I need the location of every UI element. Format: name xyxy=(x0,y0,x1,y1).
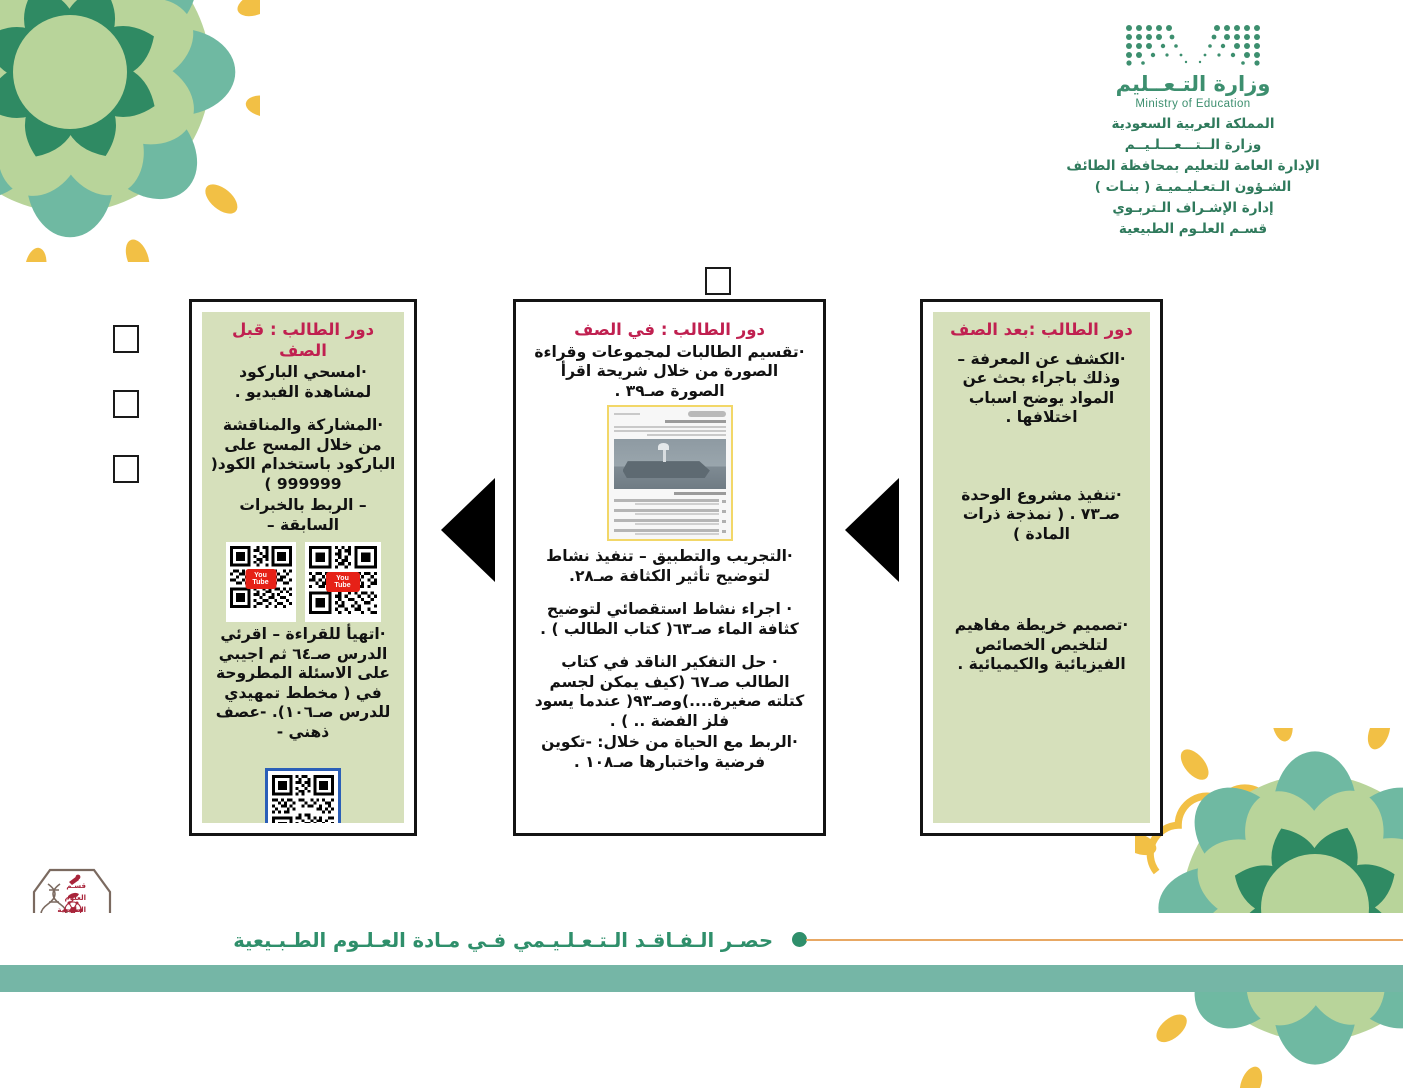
card-in-class: دور الطالب : في الصف ·تقسيم الطالبات لمج… xyxy=(513,299,826,836)
decorative-mandala-top-left xyxy=(0,0,260,262)
header-line-kingdom: المملكة العربية السعودية xyxy=(1043,114,1343,135)
card-in-class-para-1: ·التجريب والتطبيق – تنفيذ نشاط لتوضيح تأ… xyxy=(533,547,806,586)
header-line-supervision: إدارة الإشـراف الـتربـوي xyxy=(1043,198,1343,219)
card-in-class-para-4: ·الربط مع الحياة من خلال: -تكوين فرضية و… xyxy=(533,733,806,772)
flow-arrow-2 xyxy=(845,478,899,582)
card-before-para-3: – الربط بالخبرات السابقة – xyxy=(209,496,397,535)
ministry-name-en: Ministry of Education xyxy=(1043,98,1343,110)
moe-dots-logo xyxy=(1123,22,1263,66)
card-in-class-title: دور الطالب : في الصف xyxy=(533,320,806,341)
card-after-para-2: ·تنفيذ مشروع الوحدة صـ٧٣ . ( نمذجة ذرات … xyxy=(940,486,1143,545)
card-after-para-3: ·تصميم خريطة مفاهيم لتلخيص الخصائص الفيز… xyxy=(940,616,1143,675)
checkbox-3[interactable] xyxy=(113,455,139,483)
checkbox-1[interactable] xyxy=(113,325,139,353)
header-line-department: قسـم العلـوم الطبيعية xyxy=(1043,219,1343,240)
youtube-icon: You Tube xyxy=(326,572,360,592)
youtube-qr-1[interactable]: You Tube xyxy=(305,542,381,622)
header-line-affairs: الشـؤون الـتعـليـميـة ( بنـات ) xyxy=(1043,177,1343,198)
checkbox-column xyxy=(113,325,139,520)
decorative-mandala-bottom-right xyxy=(1135,728,1403,1088)
card-before-para-1: ·امسحي الباركود لمشاهدة الفيديو . xyxy=(209,363,397,402)
ship-photo xyxy=(614,439,726,489)
svg-text:العلوم: العلوم xyxy=(65,894,86,902)
lesson-qr-wrap xyxy=(209,768,397,823)
flow-arrow-1 xyxy=(441,478,495,582)
card-in-class-intro: ·تقسيم الطالبات لمجموعات وقراءة الصورة م… xyxy=(533,343,806,402)
card-in-class-para-3: · حل التفكير الناقد في كتاب الطالب صـ٦٧ … xyxy=(533,653,806,731)
card-before-para-after-qr: ·اتهيأ للقراءة – اقرئي الدرس صـ٦٤ ثم اجي… xyxy=(209,625,397,742)
ministry-header: وزارة التـعــليم Ministry of Education ا… xyxy=(1043,22,1343,240)
checkbox-2[interactable] xyxy=(113,390,139,418)
footer-bar xyxy=(0,965,1403,992)
svg-text:قسـم: قسـم xyxy=(66,882,86,890)
textbook-page-thumbnail xyxy=(607,405,733,541)
checkbox-top[interactable] xyxy=(705,267,731,295)
footer-rule xyxy=(806,939,1403,941)
card-in-class-para-2: · اجراء نشاط استقصائي لتوضيح كثافة الماء… xyxy=(533,600,806,639)
card-before-para-2: ·المشاركة والمناقشة من خلال المسح على ال… xyxy=(209,416,397,494)
card-before-title: دور الطالب : قبل الصف xyxy=(209,320,397,361)
qr-code-row: You Tube xyxy=(209,542,397,622)
ministry-name-ar: وزارة التـعــليم xyxy=(1043,72,1343,97)
card-after-class: دور الطالب :بعد الصف ·الكشف عن المعرفة –… xyxy=(920,299,1163,836)
card-after-para-1: ·الكشف عن المعرفة – وذلك باجراء بحث عن ا… xyxy=(940,350,1143,428)
youtube-icon: You Tube xyxy=(245,569,276,589)
card-before-class: دور الطالب : قبل الصف ·امسحي الباركود لم… xyxy=(189,299,417,836)
header-line-directorate: الإدارة العامة للتعليم بمحافظة الطائف xyxy=(1043,156,1343,177)
footer-title: حصـر الـفـاقـد الـتـعـلـيـمي فـي مـادة ا… xyxy=(233,929,773,952)
header-line-ministry: وزارة الــتـــعـــلـيــم xyxy=(1043,135,1343,156)
footer-bullet-dot xyxy=(792,932,807,947)
youtube-qr-2[interactable]: You Tube xyxy=(226,542,296,622)
card-after-title: دور الطالب :بعد الصف xyxy=(940,320,1143,341)
lesson-qr[interactable] xyxy=(265,768,341,823)
